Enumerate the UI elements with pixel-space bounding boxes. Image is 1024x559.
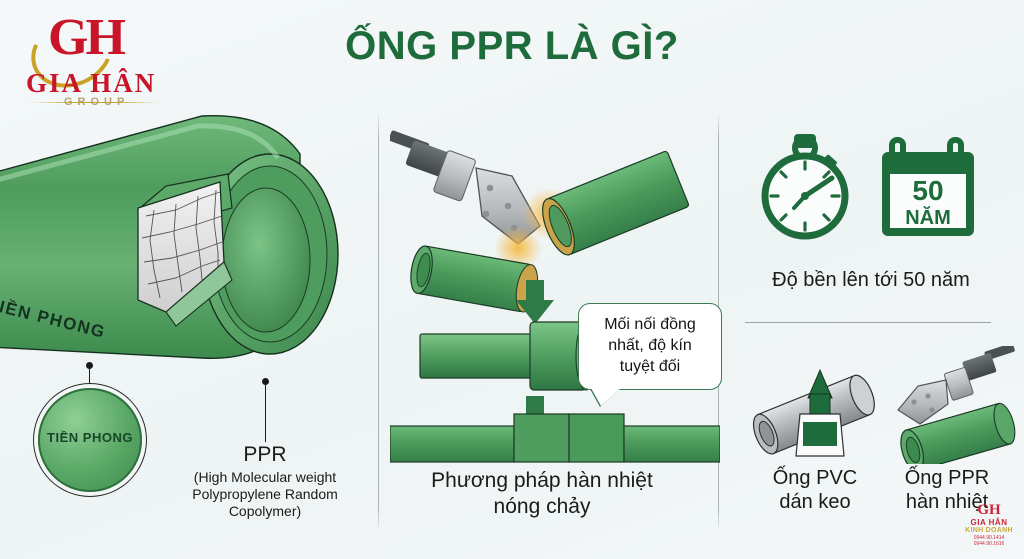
cutaway-pipe-icon (0, 112, 370, 387)
logo-brand-name: GIA HÂN (26, 68, 156, 99)
welding-method-line-1: Phương pháp hàn nhiệt (392, 468, 692, 494)
pipe-brand-badge: TIỀN PHONG (38, 388, 142, 492)
watermark-tag: KINH DOANH (960, 527, 1018, 535)
joined-pipe-illustration (390, 408, 720, 468)
welding-process-illustration (390, 118, 720, 448)
bubble-line-2: nhất, độ kín (587, 335, 713, 356)
comparison-caption-pvc: Ống PVC dán keo (740, 466, 890, 515)
leader-line-material (265, 382, 266, 442)
material-line-3: Copolymer) (150, 503, 380, 520)
calendar-unit: NĂM (905, 206, 951, 229)
logo-brand-sub: GROUP (64, 96, 129, 108)
pvc-glue-illustration (748, 352, 888, 464)
ppr-welder-illustration (888, 346, 1020, 464)
watermark-phone-2: 0944.90.1616 (960, 541, 1018, 547)
bubble-line-3: tuyệt đối (587, 356, 713, 377)
bubble-line-1: Mối nối đồng (587, 314, 713, 335)
watermark-logo: GH GIA HÂN KINH DOANH 0944.90.1414 0944.… (960, 503, 1018, 555)
quality-callout-bubble: Mối nối đồng nhất, độ kín tuyệt đối (578, 303, 722, 390)
watermark-name: GIA HÂN (960, 518, 1018, 527)
welding-method-caption: Phương pháp hàn nhiệt nóng chảy (392, 468, 692, 519)
material-title: PPR (150, 442, 380, 468)
material-line-1: (High Molecular weight (150, 469, 380, 486)
calendar-icon: 50 NĂM (878, 134, 986, 242)
durability-caption: Độ bền lên tới 50 năm (736, 268, 1006, 292)
calendar-value: 50 (912, 175, 943, 206)
comparison-ppr-line-1: Ống PPR (872, 466, 1022, 490)
infographic-canvas: GH GIA HÂN GROUP ỐNG PPR LÀ GÌ? (0, 0, 1024, 559)
comparison-pvc-line-1: Ống PVC (740, 466, 890, 490)
material-caption: PPR (High Molecular weight Polypropylene… (150, 442, 380, 520)
page-title: ỐNG PPR LÀ GÌ? (0, 24, 1024, 69)
cutaway-pipe-illustration: TIỀN PHONG (0, 112, 370, 387)
watermark-monogram: GH (960, 503, 1018, 518)
material-line-2: Polypropylene Random (150, 486, 380, 503)
divider-right-horizontal (745, 322, 991, 323)
welding-method-line-2: nóng chảy (392, 494, 692, 520)
stopwatch-icon (756, 132, 856, 242)
comparison-pvc-line-2: dán keo (740, 490, 890, 514)
pipe-brand-badge-label: TIỀN PHONG (40, 430, 140, 445)
